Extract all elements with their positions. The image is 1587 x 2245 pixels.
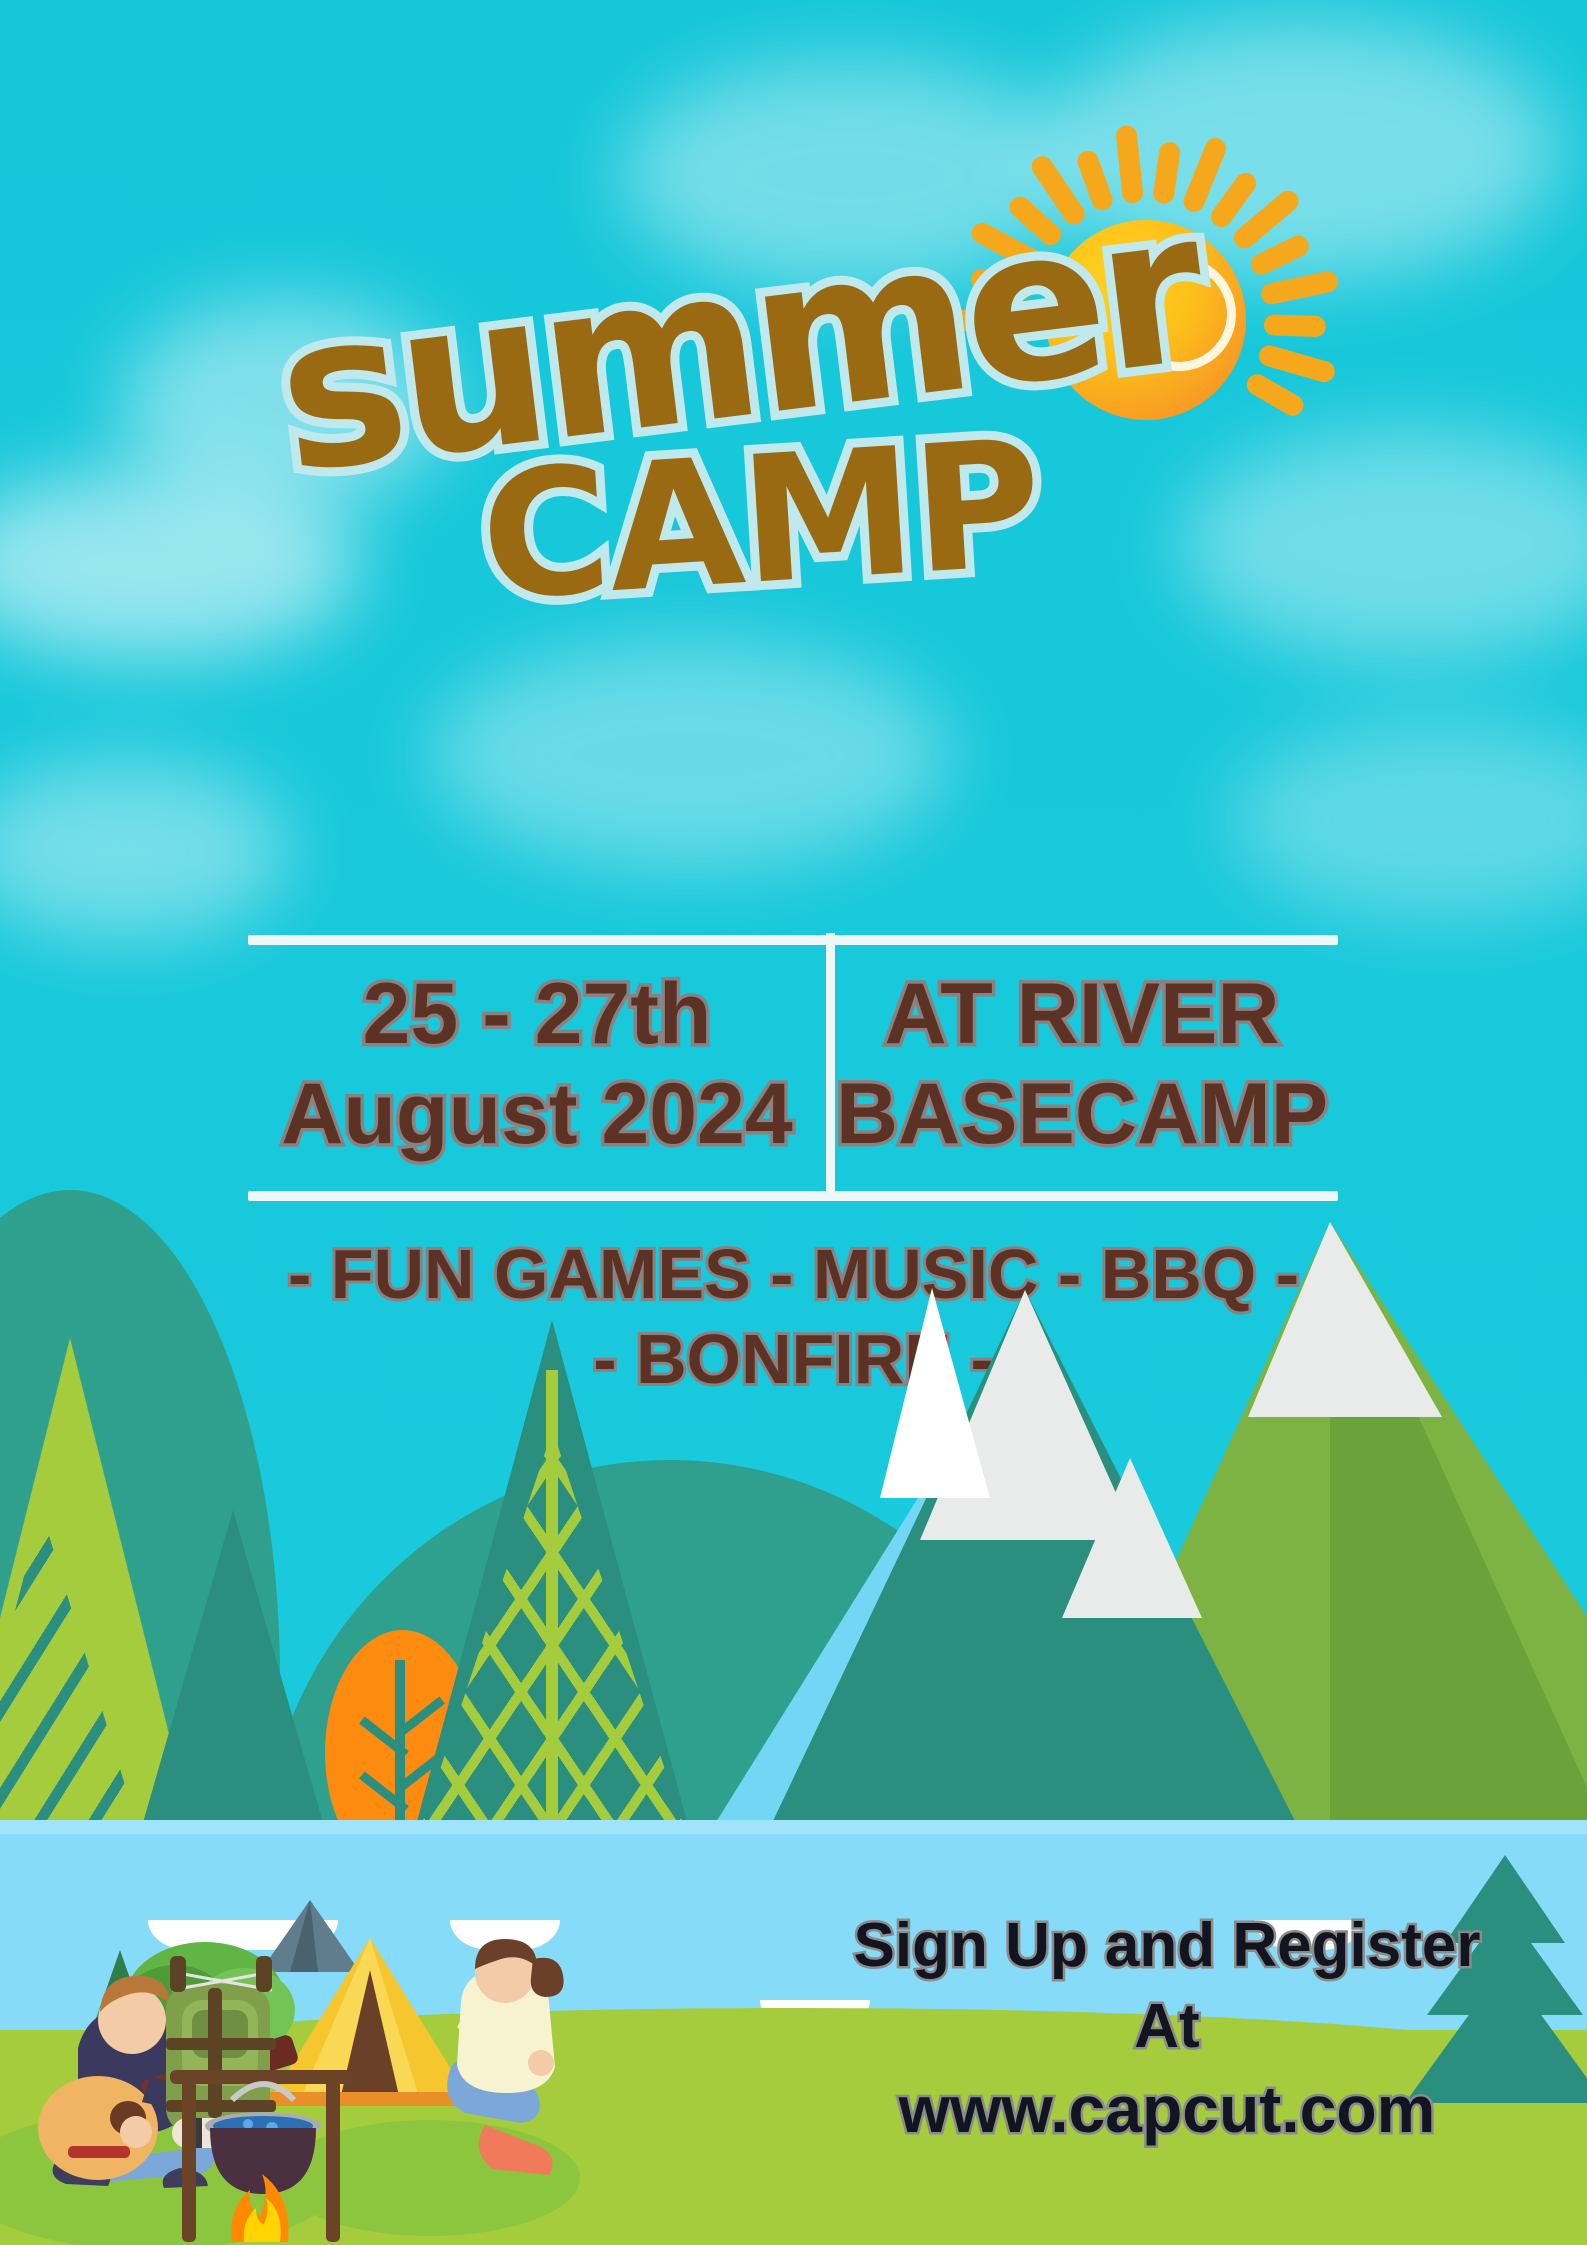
fire-post-right (326, 2072, 340, 2242)
event-date-block: 25 - 27th August 2024 (248, 945, 826, 1185)
title-line-camp: CAMP (475, 403, 1045, 640)
event-info-panel: 25 - 27th August 2024 AT RIVER BASECAMP (248, 935, 1338, 1201)
player-hand (120, 2116, 152, 2148)
signup-cta: Sign Up and Register At www.capcut.com (817, 1906, 1517, 2153)
tree-plain-pine (138, 1510, 328, 1840)
cta-line-1: Sign Up and Register At (817, 1906, 1517, 2067)
camping-scene (0, 1860, 620, 2245)
info-vertical-divider (826, 933, 835, 1199)
river-top-highlight (0, 1820, 1587, 1834)
ground-patch (280, 2120, 580, 2236)
info-columns: 25 - 27th August 2024 AT RIVER BASECAMP (248, 945, 1338, 1185)
info-top-rule (248, 935, 1338, 945)
event-location-line-2: BASECAMP (836, 1065, 1328, 1165)
tent-base (268, 2092, 474, 2106)
event-location-line-1: AT RIVER (885, 965, 1280, 1065)
poster-title: summer CAMP (0, 120, 1587, 640)
event-date-line-2: August 2024 (281, 1065, 792, 1165)
fire-post-left (182, 2072, 196, 2242)
guitar-bridge (68, 2146, 130, 2158)
cloud-wisp-centre (430, 640, 950, 870)
girl-hand (528, 2050, 554, 2076)
event-location-block: AT RIVER BASECAMP (826, 945, 1338, 1185)
mountain-teal-secondary-peak (1062, 1458, 1202, 1618)
cta-website-url[interactable]: www.capcut.com (817, 2067, 1517, 2153)
backpack-strap-vertical (208, 1988, 222, 2118)
girl-ponytail (531, 1958, 564, 1997)
event-date-line-1: 25 - 27th (363, 965, 712, 1065)
info-bottom-rule (248, 1191, 1338, 1201)
summer-camp-poster: summer CAMP 25 - 27th August 2024 AT RIV… (0, 0, 1587, 2245)
mountain-snow-ridge-white (880, 1288, 990, 1498)
